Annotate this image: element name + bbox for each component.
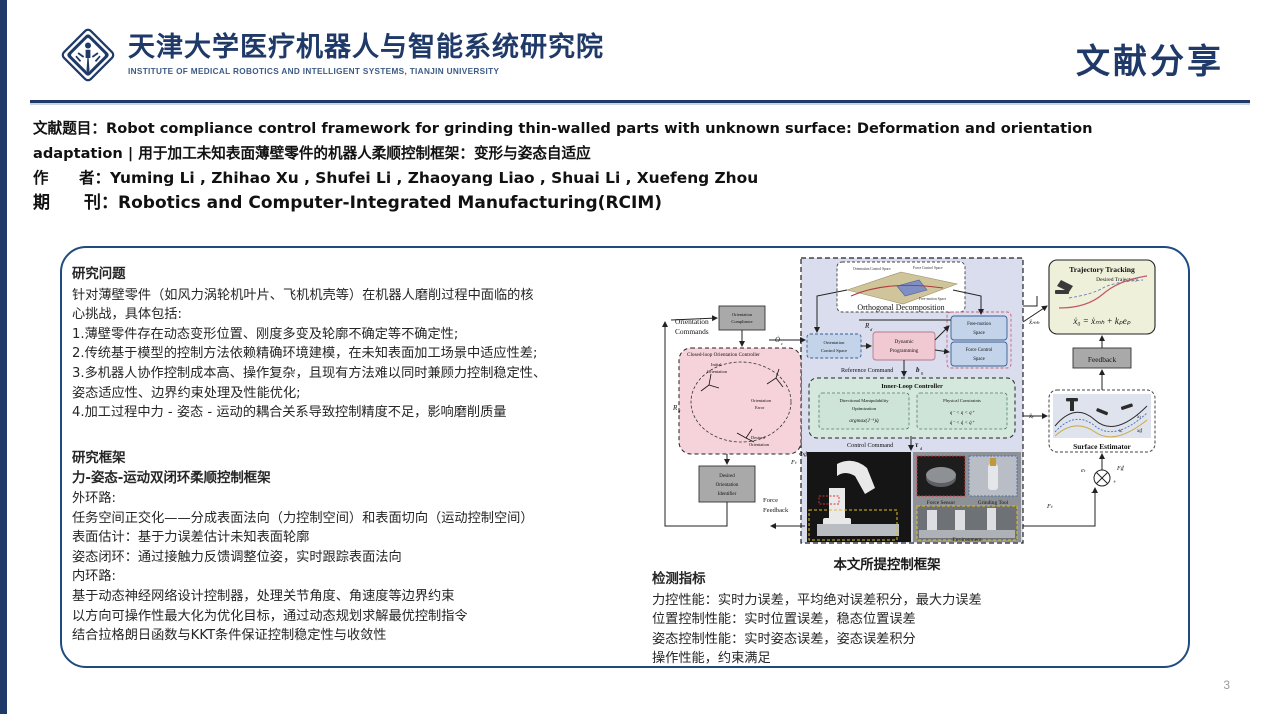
metrics-block: 检测指标 力控性能：实时力误差，平均绝对误差积分，最大力误差 位置控制性能：实时… [652,570,1122,669]
svg-text:Physical Constraints: Physical Constraints [943,398,981,403]
svg-text:Orientation: Orientation [732,312,753,317]
journal-text: Robotics and Computer-Integrated Manufac… [118,193,662,213]
rq-item-2: 2.传统基于模型的控制方法依赖精确环境建模，在未知表面加工场景中适应性差; [72,344,642,364]
rf-line-6: 基于动态神经网络设计控制器，处理关节角度、角速度等边界约束 [72,587,642,607]
rq-item-3b: 姿态适应性、边界约束处理及性能优化; [72,384,642,404]
svg-text:Orientation: Orientation [749,442,770,447]
institute-name-cn: 天津大学医疗机器人与智能系统研究院 [128,34,604,61]
fig-cloc-label: Closed-loop Orientation Controller [687,352,760,358]
svg-text:-: - [1091,490,1093,496]
journal-label: 期 刊： [33,193,118,213]
fig-feedback-label: Feedback [1088,355,1117,364]
fig-closed-loop-orientation-controller [679,348,801,454]
research-framework-subheading: 力-姿态-运动双闭环柔顺控制框架 [72,469,642,489]
rf-line-1: 外环路: [72,489,642,509]
rf-line-7: 以方向可操作性最大化为优化目标，通过动态规划求解最优控制指令 [72,607,642,627]
fig-orthogonal-decomposition: Orthogonal Decomposition [857,303,944,312]
fig-inner-loop-label: Inner-Loop Controller [881,383,943,390]
svg-text:Orientation: Orientation [751,398,772,403]
fig-control-command: Control Command [847,442,894,449]
fig-grinding-tool-label: Grinding Tool [978,500,1009,506]
svg-text:Identifier: Identifier [718,492,737,497]
rq-item-4: 4.加工过程中力 - 姿态 - 运动的耦合关系导致控制精度不足，影响磨削质量 [72,403,642,423]
svg-text:Desired: Desired [719,474,735,479]
fig-force-control-space-small: Force Control Space [913,266,943,270]
fig-force-feedback-l1: Force [763,497,778,504]
research-question-heading: 研究问题 [72,265,642,285]
metric-line-2: 位置控制性能：实时位置误差，稳态位置误差 [652,610,1122,630]
fig-free-motion-space-small: Free-motion Space [919,297,947,301]
svg-text:Free-motion: Free-motion [967,322,991,327]
svg-text:Control Space: Control Space [821,348,847,353]
fig-force-sensor-label: Force Sensor [927,500,956,506]
svg-text:Error: Error [755,405,765,410]
svg-text:Initial: Initial [711,362,722,367]
institute-emblem-icon [60,27,116,83]
rf-line-5: 内环路: [72,567,642,587]
fig-orientation-control-space-block [807,334,861,358]
fig-surface-estimator-label: Surface Estimator [1073,442,1131,451]
metric-line-4: 操作性能，约束满足 [652,649,1122,669]
title-label: 文献题目： [33,120,106,137]
svg-text:Orientation: Orientation [707,369,728,374]
rf-line-2: 任务空间正交化——分成表面法向（力控制空间）和表面切向（运动控制空间） [72,509,642,529]
institute-logo: 天津大学医疗机器人与智能系统研究院 INSTITUTE OF MEDICAL R… [60,27,604,83]
rf-line-3: 表面估计：基于力误差估计未知表面轮廓 [72,528,642,548]
page-number: 3 [1223,678,1230,692]
fig-orientation-commands-l2: Commands [675,327,709,336]
svg-text:x₫: x₫ [1136,428,1142,434]
authors-text: Yuming Li , Zhihao Xu , Shufei Li , Zhao… [110,169,758,187]
fig-orientation-control-space-small: Orientation Control Space [853,267,891,271]
svg-text:Desired: Desired [751,435,765,440]
svg-text:Space: Space [973,331,984,336]
paper-meta: 文献题目：Robot compliance control framework … [33,116,1233,216]
fig-force-control-space-block [951,342,1007,366]
svg-text:eₜ: eₜ [1081,468,1086,474]
rq-item-1: 1.薄壁零件存在动态变形位置、刚度多变及轮廓不确定等不确定性; [72,325,642,345]
rq-intro-2: 心挑战，具体包括: [72,305,642,325]
left-accent-bar [0,0,7,714]
svg-text:c: c [781,341,783,346]
metrics-heading: 检测指标 [652,570,1122,590]
rf-line-8: 结合拉格朗日函数与KKT条件保证控制稳定性与收敛性 [72,626,642,646]
fig-trajectory-tracking-label: Trajectory Tracking [1069,265,1135,274]
header-title: 文献分享 [1076,34,1224,83]
fig-force-feedback-l2: Feedback [763,507,789,514]
svg-text:Orientation: Orientation [716,483,739,488]
authors-label: 作 者： [33,169,110,187]
paper-title-line2: adaptation | 用于加工未知表面薄壁零件的机器人柔顺控制框架：变形与姿… [33,141,1233,166]
left-text-column: 研究问题 针对薄壁零件（如风力涡轮机叶片、飞机机壳等）在机器人磨削过程中面临的核… [72,265,642,646]
fig-reference-command: Reference Command [841,367,894,374]
institute-name-en: INSTITUTE OF MEDICAL ROBOTICS AND INTELL… [128,68,604,76]
metric-line-3: 姿态控制性能：实时姿态误差，姿态误差积分 [652,630,1122,650]
rq-intro-1: 针对薄壁零件（如风力涡轮机叶片、飞机机壳等）在机器人磨削过程中面临的核 [72,286,642,306]
svg-text:Force Control: Force Control [966,348,993,353]
header-divider-soft [30,103,1250,105]
fig-environment-label: Environment [952,537,982,543]
svg-text:argmax(J⁻¹)q̇: argmax(J⁻¹)q̇ [849,417,879,424]
svg-text:Dynamic: Dynamic [894,339,914,345]
control-framework-figure: Orientation Control Space Force Control … [651,250,1163,550]
fig-desired-trajectory-label: Desired Trajectory [1096,277,1138,283]
paper-title-line1: 文献题目：Robot compliance control framework … [33,116,1233,141]
svg-text:xₜ: xₜ [1136,414,1141,420]
svg-text:q⁻ < q < q⁺: q⁻ < q < q⁺ [950,410,975,416]
fig-dynamic-programming-block [873,332,935,360]
title-text-2: adaptation | 用于加工未知表面薄壁零件的机器人柔顺控制框架：变形与姿… [33,145,591,162]
svg-text:Fₜ: Fₜ [1046,503,1053,510]
control-framework-diagram: Orientation Control Space Force Control … [651,250,1163,550]
page-header: 天津大学医疗机器人与智能系统研究院 INSTITUTE OF MEDICAL R… [7,0,1268,104]
title-text-1: Robot compliance control framework for g… [106,120,1093,137]
rf-line-4: 姿态闭环：通过接触力反馈调整位姿，实时跟踪表面法向 [72,548,642,568]
paper-journal-row: 期 刊：Robotics and Computer-Integrated Man… [33,191,1233,216]
svg-text:Φ₫: Φ₫ [799,451,808,458]
svg-text:xᵣ: xᵣ [1118,428,1123,434]
svg-text:+: + [1113,480,1117,486]
svg-text:b: b [916,366,920,374]
svg-text:q̇⁻ < q̇ < q̇⁺: q̇⁻ < q̇ < q̇⁺ [950,420,975,426]
svg-text:Optimization: Optimization [852,406,877,411]
paper-authors-row: 作 者：Yuming Li , Zhihao Xu , Shufei Li , … [33,166,1233,191]
svg-text:F₫: F₫ [1116,466,1125,472]
svg-text:Fₜ: Fₜ [790,459,797,466]
rq-item-3: 3.多机器人协作控制成本高、操作复杂，且现有方法难以同时兼顾力控制稳定性、 [72,364,642,384]
svg-text:Space: Space [973,357,984,362]
svg-text:Directional Manipulability: Directional Manipulability [839,398,889,403]
fig-free-motion-space-block [951,316,1007,340]
svg-text:ẋₘₕ: ẋₘₕ [1028,318,1039,326]
svg-text:ẋ₀ = ẋₘₕ + kₚeₚ: ẋ₀ = ẋₘₕ + kₚeₚ [1072,316,1130,326]
svg-text:Compliance: Compliance [731,319,752,324]
research-framework-heading: 研究框架 [72,449,642,469]
fig-orientation-compliance-block [719,306,765,330]
svg-text:Programming: Programming [890,348,919,354]
metric-line-1: 力控性能：实时力误差，平均绝对误差积分，最大力误差 [652,591,1122,611]
svg-text:Orientation: Orientation [824,340,846,345]
